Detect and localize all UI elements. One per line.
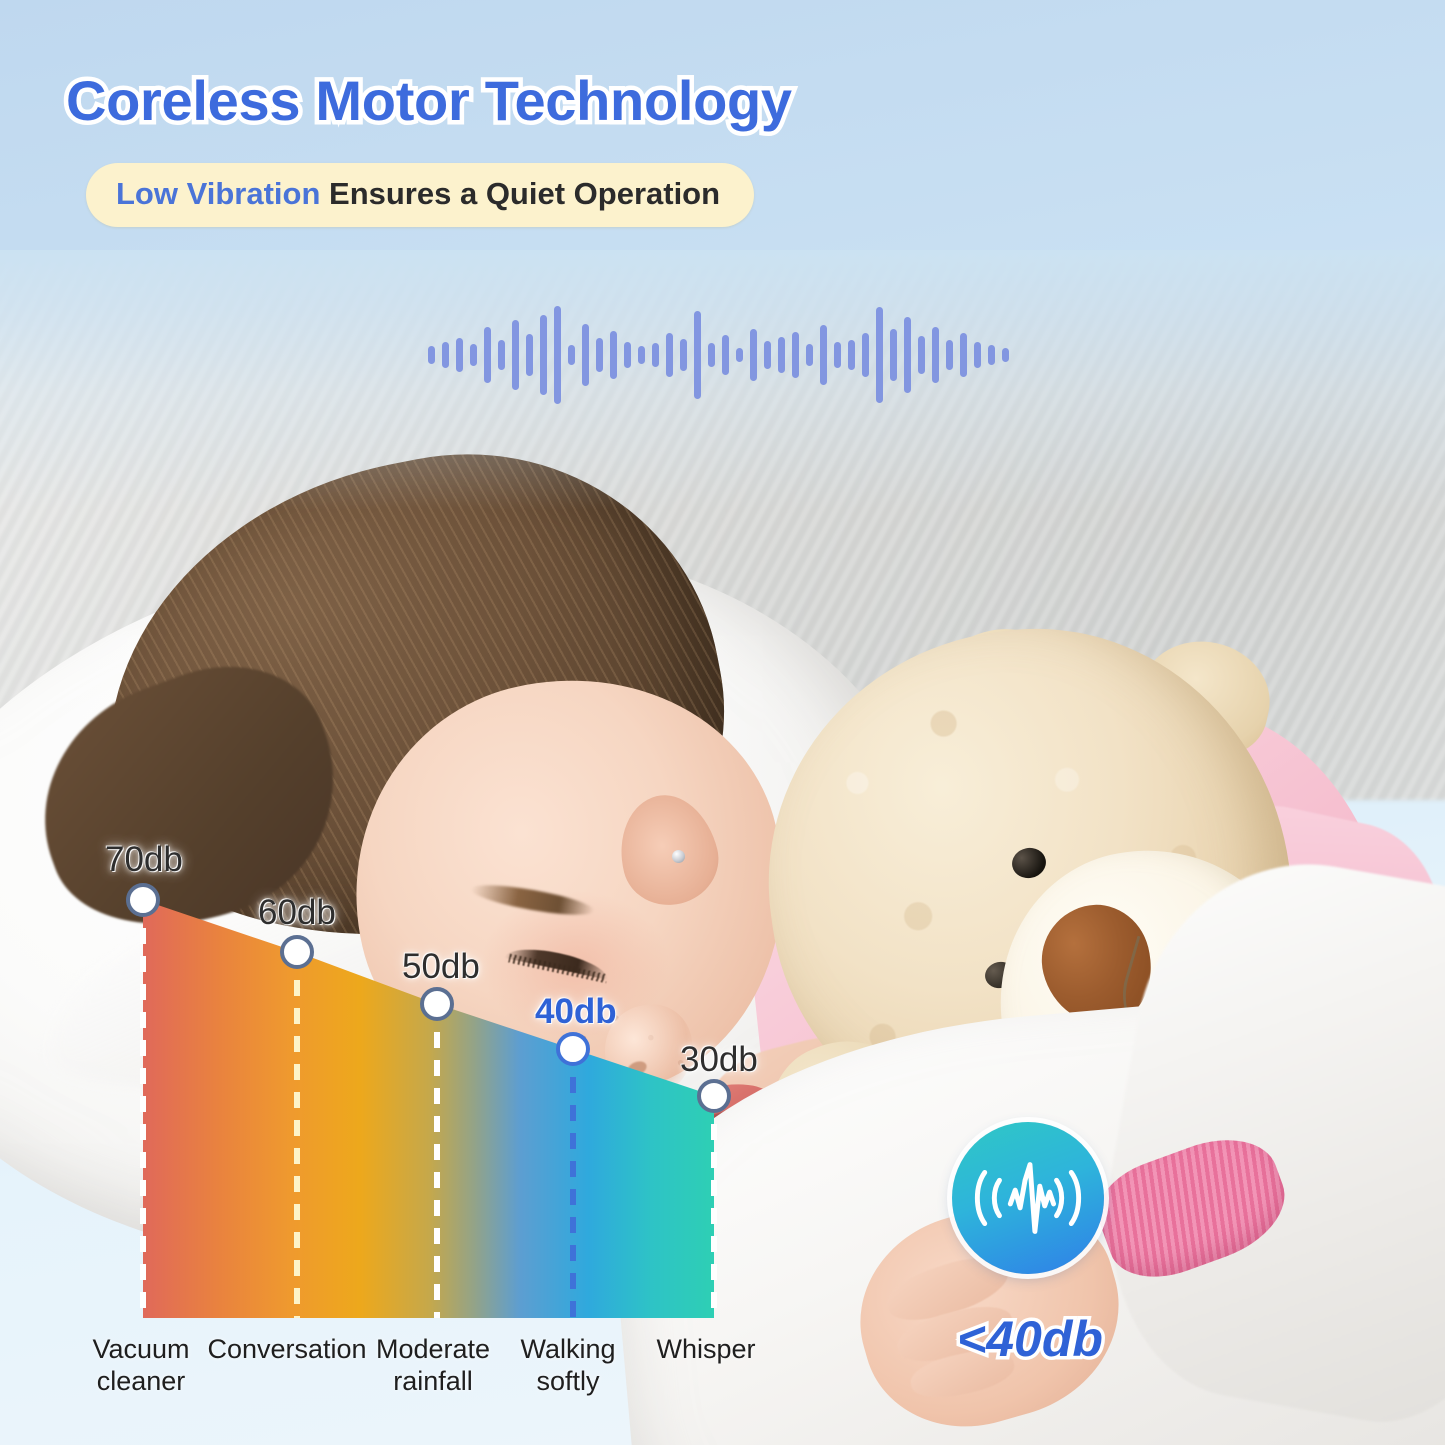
waveform-bar [442, 342, 449, 368]
waveform-bar [960, 333, 967, 377]
waveform-bar [932, 327, 939, 383]
waveform-bar [540, 315, 547, 395]
waveform-bar [582, 324, 589, 386]
waveform-bar [526, 334, 533, 376]
waveform-bar [806, 344, 813, 366]
poster-canvas: Coreless Motor Technology Low Vibration … [0, 0, 1445, 1445]
sound-wave-icon [969, 1150, 1087, 1246]
waveform-bar [876, 307, 883, 403]
category-label-4: Whisper [656, 1334, 755, 1366]
waveform-bar [848, 340, 855, 370]
waveform-bar [974, 342, 981, 368]
waveform-bar [862, 333, 869, 377]
waveform-bar [694, 311, 701, 399]
waveform-bar [764, 341, 771, 369]
waveform-bar [428, 346, 435, 364]
waveform-bar [610, 331, 617, 379]
waveform-bar [1002, 348, 1009, 362]
category-label-3: Walking softly [520, 1334, 615, 1398]
category-label-0: Vacuum cleaner [92, 1334, 189, 1398]
quiet-badge [952, 1122, 1104, 1274]
waveform-bar [988, 345, 995, 365]
waveform-bar [946, 340, 953, 370]
waveform-bar [568, 345, 575, 365]
db-label-0: 70db [105, 840, 183, 880]
waveform-bar [736, 348, 743, 362]
waveform-bar [890, 329, 897, 381]
category-label-2: Moderate rainfall [376, 1334, 490, 1398]
category-label-1: Conversation [207, 1334, 366, 1366]
waveform-bar [792, 332, 799, 378]
db-label-3: 40db [535, 992, 617, 1032]
waveform-bar [624, 342, 631, 368]
waveform-bar [498, 340, 505, 370]
bedroom-photo [0, 250, 1445, 1445]
waveform-bar [722, 335, 729, 375]
earring-icon [672, 850, 685, 863]
db-label-1: 60db [258, 893, 336, 933]
waveform-bar [778, 337, 785, 373]
badge-label: <40db [957, 1310, 1103, 1368]
subtitle-rest: Ensures a Quiet Operation [329, 176, 720, 211]
waveform-bar [470, 344, 477, 366]
waveform-bar [708, 343, 715, 367]
waveform-bar [820, 325, 827, 385]
page-title: Coreless Motor Technology [66, 68, 792, 133]
db-label-2: 50db [402, 947, 480, 987]
waveform-bar [512, 320, 519, 390]
waveform-bar [652, 343, 659, 367]
waveform-bar [750, 329, 757, 381]
subtitle-highlight: Low Vibration [116, 176, 320, 211]
waveform-bar [918, 336, 925, 374]
db-label-4: 30db [680, 1040, 758, 1080]
subtitle-pill: Low Vibration Ensures a Quiet Operation [86, 163, 754, 227]
waveform-bar [680, 339, 687, 371]
waveform-bar [904, 317, 911, 393]
waveform-bar [834, 342, 841, 368]
waveform-bar [554, 306, 561, 404]
waveform-bar [484, 327, 491, 383]
waveform-bar [638, 346, 645, 364]
waveform-bar [456, 338, 463, 372]
waveform-bar [666, 333, 673, 377]
waveform-bar [596, 338, 603, 372]
audio-waveform-icon [428, 300, 1038, 410]
